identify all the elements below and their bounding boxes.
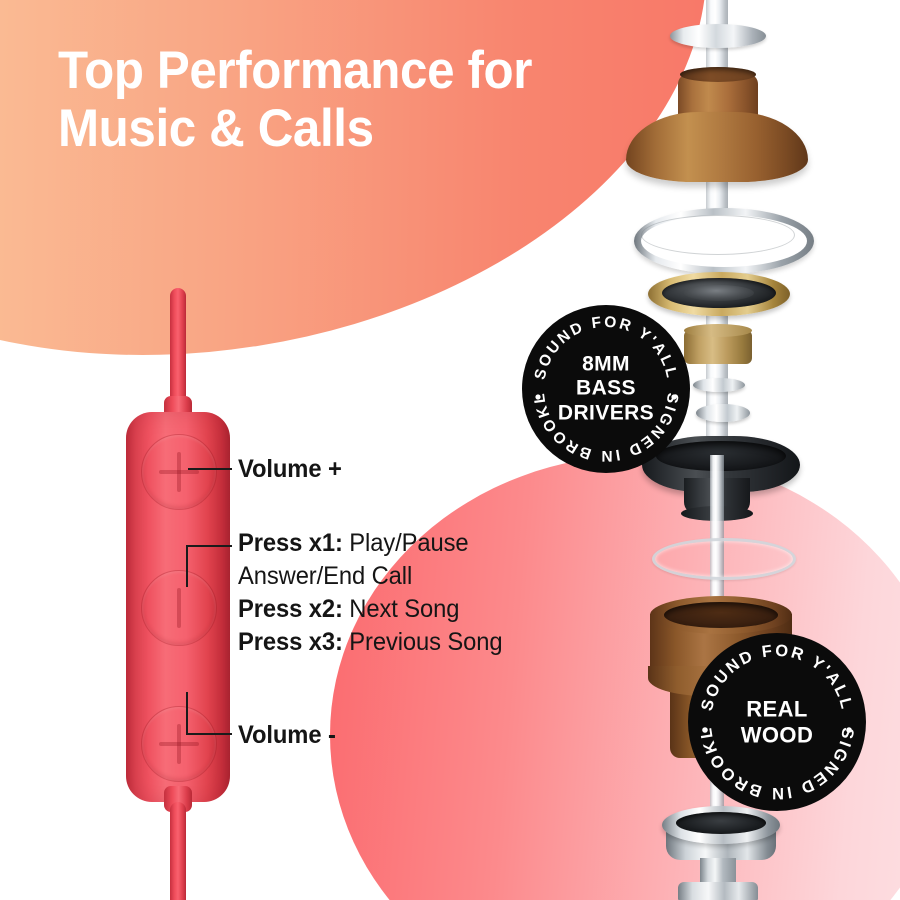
leader-elbow-volume-down — [186, 692, 188, 735]
badge-wood-center-text: REAL WOOD — [688, 696, 866, 747]
callout-press-row-value: Previous Song — [343, 628, 503, 656]
badge-wood-line-2: WOOD — [688, 722, 866, 748]
callout-volume-down: Volume - — [238, 719, 336, 752]
inline-remote-control — [118, 290, 238, 900]
multifunction-button[interactable] — [141, 570, 217, 646]
leader-line-volume-up — [188, 468, 232, 470]
badge-bass-drivers: SOUND FOR Y'ALL DESIGNED IN BROOKLYN 8MM… — [522, 305, 690, 473]
wooden-dome-housing — [626, 112, 808, 182]
chrome-disc-lower — [696, 404, 750, 422]
badge-bass-center-text: 8MM BASS DRIVERS — [522, 352, 690, 425]
badge-real-wood: SOUND FOR Y'ALL DESIGNED IN BROOKLYN REA… — [688, 633, 866, 811]
infographic-canvas: Top Performance for Music & Calls Volume — [0, 0, 900, 900]
callout-press-row-value: Answer/End Call — [238, 562, 412, 590]
callout-press-row-label: Press x1: — [238, 529, 343, 557]
leader-line-volume-down — [188, 733, 232, 735]
callout-press-row: Answer/End Call — [238, 560, 503, 593]
badge-bass-line-2: BASS — [522, 377, 690, 401]
callout-volume-up: Volume + — [238, 453, 342, 486]
callout-press-row-label: Press x2: — [238, 595, 343, 623]
callout-press-row-value: Next Song — [343, 595, 460, 623]
wooden-cup-hollow — [664, 602, 778, 628]
plus-icon-vertical — [177, 452, 181, 492]
badge-wood-line-1: REAL — [688, 696, 866, 722]
page-title-line-1: Top Performance for — [58, 42, 542, 100]
cable-lower — [170, 802, 186, 900]
leader-elbow-press — [186, 545, 188, 587]
callout-press-row: Press x1: Play/Pause — [238, 527, 503, 560]
callout-press-row-value: Play/Pause — [343, 529, 469, 557]
callout-press-row: Press x3: Previous Song — [238, 626, 503, 659]
badge-bass-line-3: DRIVERS — [522, 401, 690, 425]
chrome-nozzle-foot — [678, 882, 758, 900]
page-title-line-2: Music & Calls — [58, 100, 542, 158]
volume-up-button[interactable] — [141, 434, 217, 510]
volume-down-button[interactable] — [141, 706, 217, 782]
volume-down-line-icon — [177, 724, 181, 764]
badge-bass-line-1: 8MM — [522, 352, 690, 376]
wood-collar — [684, 330, 752, 364]
leader-line-press — [188, 545, 232, 547]
remote-housing — [126, 412, 230, 802]
driver-core — [684, 285, 754, 301]
chrome-nozzle-rim-inner — [676, 812, 766, 834]
knurled-chrome-ring — [670, 24, 766, 48]
page-title: Top Performance for Music & Calls — [58, 42, 542, 158]
chrome-disc-upper — [693, 378, 745, 392]
clear-ring — [652, 538, 796, 580]
chrome-band-ring-inner — [641, 215, 795, 255]
center-line-icon — [177, 588, 181, 628]
callout-press-row: Press x2: Next Song — [238, 593, 503, 626]
callout-press-actions: Press x1: Play/Pause Answer/End Call Pre… — [238, 527, 503, 659]
callout-press-row-label: Press x3: — [238, 628, 343, 656]
